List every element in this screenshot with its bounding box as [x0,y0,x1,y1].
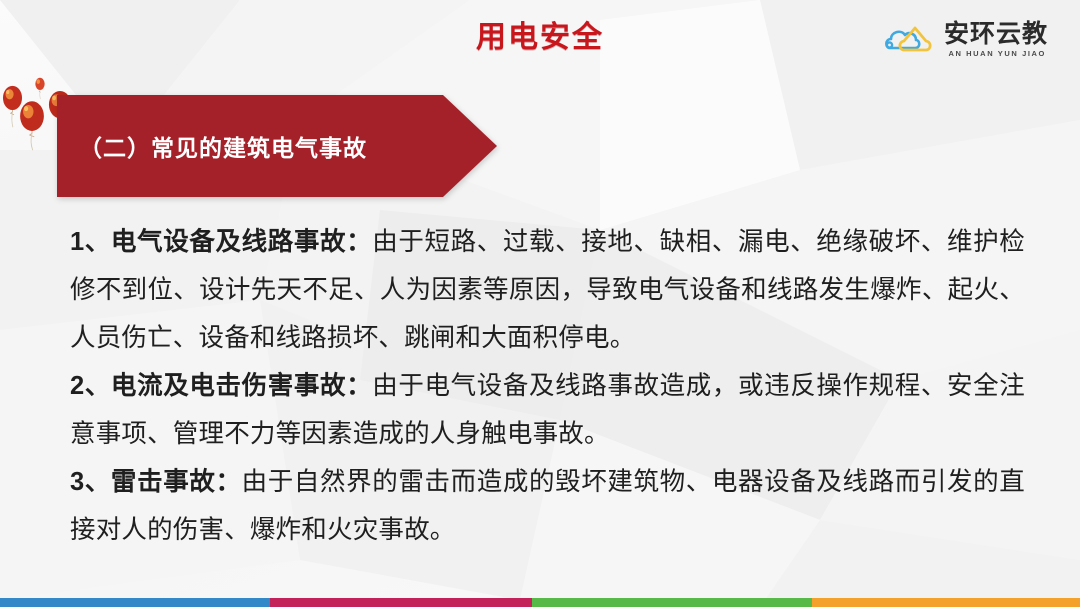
body-content: 1、电气设备及线路事故：由于短路、过载、接地、缺相、漏电、绝缘破坏、维护检修不到… [70,218,1025,554]
bottom-bar-segment-crimson [270,598,532,607]
bottom-bar-segment-green [532,598,812,607]
content-item-3: 3、雷击事故：由于自然界的雷击而造成的毁坏建筑物、电器设备及线路而引发的直接对人… [70,458,1025,554]
content-item-2: 2、电流及电击伤害事故：由于电气设备及线路事故造成，或违反操作规程、安全注意事项… [70,362,1025,458]
cloud-icon [884,23,936,57]
logo-name-cn: 安环云教 [944,22,1048,47]
section-banner: （二）常见的建筑电气事故 [57,95,497,197]
content-item-1-lead: 1、电气设备及线路事故： [70,228,372,256]
bottom-color-bar [0,598,1080,607]
content-item-1: 1、电气设备及线路事故：由于短路、过载、接地、缺相、漏电、绝缘破坏、维护检修不到… [70,218,1025,362]
content-item-3-lead: 3、雷击事故： [70,468,242,496]
bottom-bar-segment-orange [812,598,1080,607]
balloon-center-icon [17,99,47,151]
balloon-small-top-icon [33,76,47,100]
bottom-bar-segment-blue [0,598,270,607]
brand-logo: 安环云教 AN HUAN YUN JIAO [884,22,1048,58]
logo-name-en: AN HUAN YUN JIAO [948,50,1048,58]
slide-canvas: 用电安全 安环云教 AN HUAN YUN JIAO [0,0,1080,607]
section-banner-label: （二）常见的建筑电气事故 [79,95,367,197]
content-item-2-lead: 2、电流及电击伤害事故： [70,372,372,400]
